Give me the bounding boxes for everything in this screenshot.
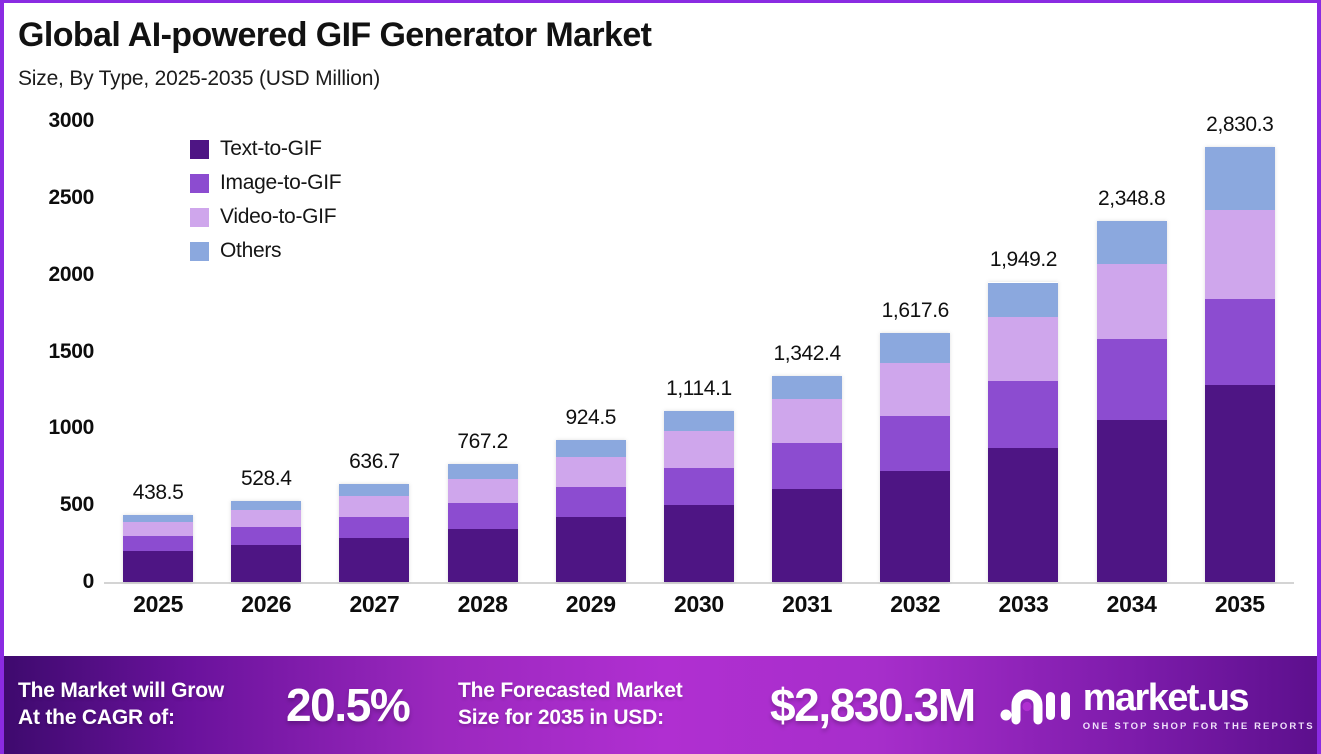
bar-total-label: 636.7 — [349, 450, 400, 474]
legend-item-video-to-gif[interactable]: Video-to-GIF — [190, 205, 341, 229]
bar-segment-image-to-gif[interactable] — [880, 416, 950, 471]
x-axis-tick-2035: 2035 — [1186, 591, 1294, 618]
legend-swatch-icon — [190, 140, 209, 159]
x-axis-tick-2032: 2032 — [861, 591, 969, 618]
logo-wordmark: market.us — [1083, 679, 1315, 717]
bar-segment-text-to-gif[interactable] — [772, 489, 842, 582]
bar-total-label: 528.4 — [241, 467, 292, 491]
bar-total-label: 1,342.4 — [773, 342, 840, 366]
cagr-label-line2: At the CAGR of: — [18, 705, 286, 732]
bar-segment-video-to-gif[interactable] — [988, 317, 1058, 381]
bar-segment-text-to-gif[interactable] — [123, 551, 193, 583]
bar-total-label: 1,114.1 — [666, 377, 732, 401]
market-us-logo-icon — [999, 684, 1071, 726]
bar-segment-video-to-gif[interactable] — [231, 510, 301, 527]
bar-segment-video-to-gif[interactable] — [880, 363, 950, 416]
cagr-label: The Market will Grow At the CAGR of: — [18, 678, 286, 732]
bar-segment-image-to-gif[interactable] — [556, 487, 626, 518]
x-axis-tick-2029: 2029 — [537, 591, 645, 618]
legend-swatch-icon — [190, 242, 209, 261]
bar-segment-others[interactable] — [1097, 221, 1167, 264]
bar-segment-text-to-gif[interactable] — [988, 448, 1058, 582]
bar-stack[interactable] — [880, 333, 950, 582]
bar-segment-image-to-gif[interactable] — [448, 503, 518, 529]
bar-segment-text-to-gif[interactable] — [448, 529, 518, 582]
bar-segment-others[interactable] — [448, 464, 518, 478]
bar-stack[interactable] — [988, 282, 1058, 582]
legend-item-image-to-gif[interactable]: Image-to-GIF — [190, 171, 341, 195]
logo-tagline: ONE STOP SHOP FOR THE REPORTS — [1083, 722, 1315, 732]
bar-segment-video-to-gif[interactable] — [123, 522, 193, 536]
bar-segment-others[interactable] — [664, 411, 734, 432]
bar-stack[interactable] — [1097, 221, 1167, 582]
y-axis-tick: 1500 — [48, 340, 94, 364]
bar-total-label: 767.2 — [457, 430, 508, 454]
x-axis-tick-2028: 2028 — [429, 591, 537, 618]
x-axis-tick-2026: 2026 — [212, 591, 320, 618]
legend-label: Text-to-GIF — [220, 137, 322, 161]
legend-item-others[interactable]: Others — [190, 239, 341, 263]
bar-segment-video-to-gif[interactable] — [664, 431, 734, 467]
y-axis-tick: 3000 — [48, 109, 94, 133]
bar-segment-text-to-gif[interactable] — [339, 538, 409, 582]
bar-stack[interactable] — [1205, 147, 1275, 582]
bar-segment-image-to-gif[interactable] — [339, 517, 409, 538]
bar-segment-image-to-gif[interactable] — [1097, 339, 1167, 420]
bar-total-label: 1,949.2 — [990, 248, 1057, 272]
bar-total-label: 2,830.3 — [1206, 113, 1273, 137]
bar-group-2028[interactable]: 767.2 — [429, 121, 537, 582]
y-axis-tick: 2000 — [48, 263, 94, 287]
x-axis-tick-2025: 2025 — [104, 591, 212, 618]
bar-segment-video-to-gif[interactable] — [1205, 210, 1275, 299]
bar-group-2031[interactable]: 1,342.4 — [753, 121, 861, 582]
cagr-label-line1: The Market will Grow — [18, 678, 286, 705]
y-axis-tick: 1000 — [48, 416, 94, 440]
bar-segment-video-to-gif[interactable] — [772, 399, 842, 443]
bar-total-label: 924.5 — [565, 406, 616, 430]
bar-segment-text-to-gif[interactable] — [1097, 420, 1167, 582]
x-axis-baseline — [104, 582, 1294, 584]
bar-segment-image-to-gif[interactable] — [988, 381, 1058, 449]
x-axis: 2025202620272028202920302031203220332034… — [104, 591, 1294, 618]
legend-swatch-icon — [190, 174, 209, 193]
page-subtitle: Size, By Type, 2025-2035 (USD Million) — [18, 67, 1303, 91]
bar-group-2032[interactable]: 1,617.6 — [861, 121, 969, 582]
x-axis-tick-2027: 2027 — [320, 591, 428, 618]
bar-group-2035[interactable]: 2,830.3 — [1186, 121, 1294, 582]
infographic-page: Global AI-powered GIF Generator Market S… — [0, 0, 1321, 754]
x-axis-tick-2034: 2034 — [1078, 591, 1186, 618]
forecast-label-line2: Size for 2035 in USD: — [458, 705, 758, 732]
market-us-logo[interactable]: market.us ONE STOP SHOP FOR THE REPORTS — [999, 679, 1315, 732]
legend-label: Others — [220, 239, 281, 263]
x-axis-tick-2033: 2033 — [969, 591, 1077, 618]
bar-segment-image-to-gif[interactable] — [123, 536, 193, 551]
page-title: Global AI-powered GIF Generator Market — [18, 17, 1303, 54]
y-axis: 050010001500200025003000 — [4, 121, 104, 583]
legend-label: Image-to-GIF — [220, 171, 341, 195]
logo-text: market.us ONE STOP SHOP FOR THE REPORTS — [1083, 679, 1315, 732]
forecast-label-line1: The Forecasted Market — [458, 678, 758, 705]
bar-segment-video-to-gif[interactable] — [339, 496, 409, 517]
bar-segment-text-to-gif[interactable] — [1205, 385, 1275, 582]
bar-total-label: 2,348.8 — [1098, 187, 1165, 211]
bar-segment-others[interactable] — [339, 484, 409, 496]
bar-segment-text-to-gif[interactable] — [231, 545, 301, 582]
chart-legend: Text-to-GIFImage-to-GIFVideo-to-GIFOther… — [190, 137, 341, 263]
bar-segment-video-to-gif[interactable] — [556, 457, 626, 487]
bar-segment-image-to-gif[interactable] — [1205, 299, 1275, 385]
footer-banner: The Market will Grow At the CAGR of: 20.… — [4, 656, 1321, 754]
forecast-value: $2,830.3M — [770, 678, 975, 732]
cagr-value: 20.5% — [286, 678, 458, 732]
legend-label: Video-to-GIF — [220, 205, 336, 229]
bar-segment-others[interactable] — [988, 283, 1058, 317]
bar-total-label: 438.5 — [133, 481, 184, 505]
bar-stack[interactable] — [123, 515, 193, 582]
bar-stack[interactable] — [231, 501, 301, 582]
bar-stack[interactable] — [339, 484, 409, 582]
bar-segment-others[interactable] — [556, 440, 626, 457]
x-axis-tick-2031: 2031 — [753, 591, 861, 618]
legend-item-text-to-gif[interactable]: Text-to-GIF — [190, 137, 341, 161]
chart-plot-area: 050010001500200025003000 Text-to-GIFImag… — [4, 121, 1317, 641]
bar-segment-text-to-gif[interactable] — [880, 471, 950, 582]
bar-stack[interactable] — [664, 411, 734, 582]
bar-segment-text-to-gif[interactable] — [664, 505, 734, 582]
y-axis-tick: 2500 — [48, 186, 94, 210]
bar-segment-others[interactable] — [1205, 147, 1275, 210]
bar-stack[interactable] — [772, 376, 842, 582]
bar-group-2030[interactable]: 1,114.1 — [645, 121, 753, 582]
bar-segment-video-to-gif[interactable] — [448, 479, 518, 504]
header: Global AI-powered GIF Generator Market S… — [18, 17, 1303, 91]
bar-segment-video-to-gif[interactable] — [1097, 264, 1167, 339]
bar-stack[interactable] — [448, 464, 518, 582]
legend-swatch-icon — [190, 208, 209, 227]
bar-segment-text-to-gif[interactable] — [556, 517, 626, 582]
bar-segment-others[interactable] — [231, 501, 301, 510]
bar-segment-image-to-gif[interactable] — [664, 468, 734, 506]
y-axis-tick: 500 — [60, 493, 94, 517]
bar-stack[interactable] — [556, 440, 626, 582]
bar-segment-image-to-gif[interactable] — [772, 443, 842, 489]
bar-segment-others[interactable] — [772, 376, 842, 399]
forecast-label: The Forecasted Market Size for 2035 in U… — [458, 678, 758, 732]
x-axis-tick-2030: 2030 — [645, 591, 753, 618]
bar-segment-others[interactable] — [123, 515, 193, 522]
bar-total-label: 1,617.6 — [882, 299, 949, 323]
y-axis-tick: 0 — [83, 570, 94, 594]
bar-segment-others[interactable] — [880, 333, 950, 363]
bar-segment-image-to-gif[interactable] — [231, 527, 301, 545]
bar-group-2029[interactable]: 924.5 — [537, 121, 645, 582]
bar-group-2034[interactable]: 2,348.8 — [1078, 121, 1186, 582]
bar-group-2033[interactable]: 1,949.2 — [969, 121, 1077, 582]
